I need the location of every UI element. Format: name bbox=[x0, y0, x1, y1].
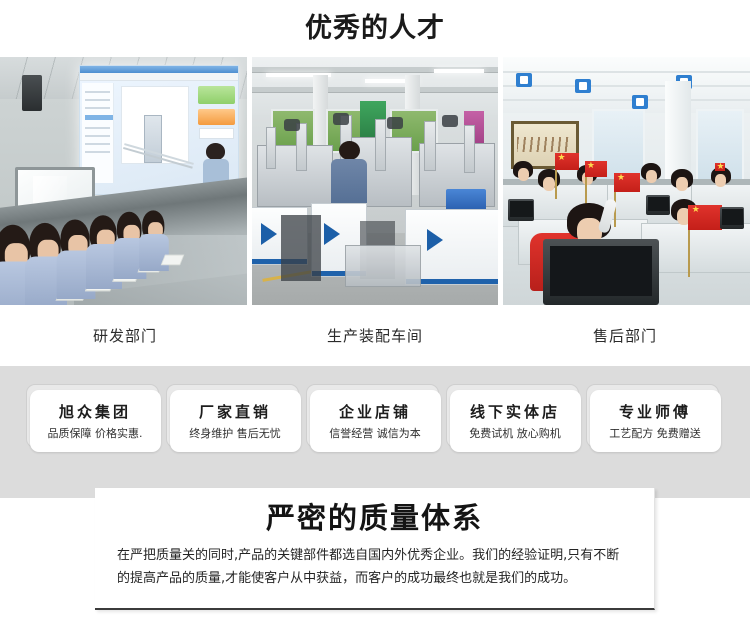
chinese-flag bbox=[585, 161, 607, 177]
ceiling-sign-icon bbox=[632, 95, 648, 109]
photo-captions: 研发部门 生产装配车间 售后部门 bbox=[0, 305, 750, 366]
badge-card-5[interactable]: 专业师傅 工艺配方 免费赠送 bbox=[590, 390, 721, 452]
caption-rd: 研发部门 bbox=[0, 305, 250, 366]
ceiling-sign-icon bbox=[575, 79, 591, 93]
speaker-icon bbox=[22, 75, 42, 111]
front-monitor bbox=[543, 239, 659, 305]
badge-title: 旭众集团 bbox=[59, 401, 131, 422]
window-toolbar bbox=[80, 73, 238, 81]
chinese-flag bbox=[688, 205, 722, 230]
attendees-row bbox=[0, 193, 183, 305]
caption-workshop: 生产装配车间 bbox=[250, 305, 500, 366]
badge-title: 线下实体店 bbox=[470, 401, 560, 422]
monitor bbox=[508, 199, 534, 221]
quality-section: 严密的质量体系 在严把质量关的同时,产品的关键部件都选自国内外优秀企业。我们的经… bbox=[0, 476, 750, 622]
orange-panel bbox=[198, 109, 234, 125]
badge-subtitle: 工艺配方 免费赠送 bbox=[609, 425, 701, 441]
page-root: 优秀的人才 bbox=[0, 0, 750, 642]
monitor bbox=[646, 195, 670, 215]
chinese-flag bbox=[715, 163, 725, 171]
badge-card-2[interactable]: 厂家直销 终身维护 售后无忧 bbox=[170, 390, 301, 452]
trust-badge-band: 旭众集团 品质保障 价格实惠. 厂家直销 终身维护 售后无忧 企业店铺 信誉经营… bbox=[0, 366, 750, 476]
photo-aftersales-department[interactable] bbox=[503, 57, 750, 305]
quality-body: 在严把质量关的同时,产品的关键部件都选自国内外优秀企业。我们的经验证明,只有不断… bbox=[117, 545, 632, 591]
blue-crate bbox=[446, 189, 486, 211]
badge-title: 企业店铺 bbox=[339, 401, 411, 422]
badge-subtitle: 终身维护 售后无忧 bbox=[189, 425, 281, 441]
quality-title: 严密的质量体系 bbox=[117, 502, 632, 535]
caption-aftersales: 售后部门 bbox=[500, 305, 750, 366]
badge-subtitle: 免费试机 放心购机 bbox=[469, 425, 561, 441]
chinese-flag bbox=[555, 153, 579, 170]
page-title: 优秀的人才 bbox=[305, 15, 445, 42]
photo-assembly-workshop[interactable] bbox=[252, 57, 499, 305]
white-panel bbox=[199, 128, 234, 139]
monitor bbox=[720, 207, 744, 229]
chinese-flag bbox=[614, 173, 640, 192]
badge-title: 厂家直销 bbox=[199, 401, 271, 422]
green-panel bbox=[198, 86, 234, 104]
window-titlebar bbox=[80, 66, 238, 73]
badge-subtitle: 信誉经营 诚信为本 bbox=[329, 425, 421, 441]
badge-card-4[interactable]: 线下实体店 免费试机 放心购机 bbox=[450, 390, 581, 452]
badge-subtitle: 品质保障 价格实惠. bbox=[48, 425, 143, 441]
photo-gallery bbox=[0, 57, 750, 305]
badge-card-1[interactable]: 旭众集团 品质保障 价格实惠. bbox=[30, 390, 161, 452]
machine-diagram bbox=[144, 115, 162, 163]
badge-card-3[interactable]: 企业店铺 信誉经营 诚信为本 bbox=[310, 390, 441, 452]
page-header: 优秀的人才 bbox=[0, 0, 750, 57]
photo-rd-department[interactable] bbox=[0, 57, 247, 305]
quality-card: 严密的质量体系 在严把质量关的同时,产品的关键部件都选自国内外优秀企业。我们的经… bbox=[95, 488, 655, 610]
badge-title: 专业师傅 bbox=[619, 401, 691, 422]
ceiling-sign-icon bbox=[516, 73, 532, 87]
